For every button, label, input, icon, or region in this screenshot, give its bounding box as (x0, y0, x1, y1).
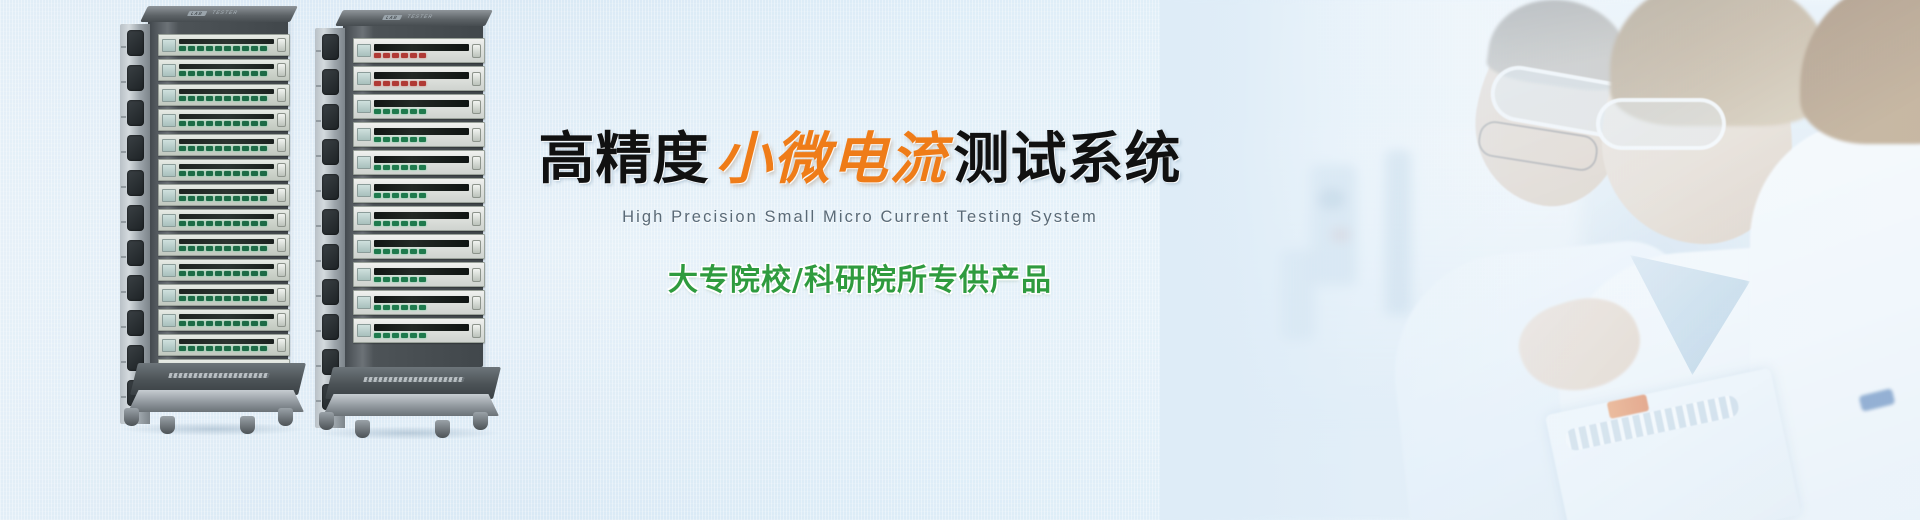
rail-vent-slot (127, 135, 144, 161)
status-led (410, 53, 417, 58)
instrument-knob (277, 288, 286, 302)
instrument-module (158, 259, 290, 281)
status-led (188, 271, 195, 276)
status-led (197, 196, 204, 201)
status-led (392, 277, 399, 282)
instrument-knob (277, 213, 286, 227)
status-led (392, 109, 399, 114)
instrument-readout-bar (374, 184, 469, 191)
instrument-led-row (179, 71, 274, 76)
instrument-module (353, 94, 485, 119)
rail-tick (316, 120, 321, 122)
status-led (224, 196, 231, 201)
rack-caster (319, 412, 334, 430)
instrument-module (158, 84, 290, 106)
status-led (374, 249, 381, 254)
status-led (179, 96, 186, 101)
instrument-module (353, 318, 485, 343)
status-led (242, 171, 249, 176)
status-led (260, 121, 267, 126)
status-led (233, 221, 240, 226)
status-led (215, 96, 222, 101)
status-led (419, 109, 426, 114)
status-led (224, 271, 231, 276)
rail-vent-slot (127, 205, 144, 231)
instrument-knob (277, 238, 286, 252)
instrument-knob (277, 338, 286, 352)
rail-vent-slot (322, 69, 339, 95)
rail-tick (121, 396, 126, 398)
instrument-led-row (179, 346, 274, 351)
status-led (392, 81, 399, 86)
status-led (401, 165, 408, 170)
rail-tick (316, 365, 321, 367)
equipment-rack-right: LAB TESTER (315, 22, 490, 418)
status-led (383, 137, 390, 142)
status-led (233, 346, 240, 351)
instrument-led-row (179, 296, 274, 301)
instrument-module (158, 184, 290, 206)
instrument-readout-bar (374, 240, 469, 247)
status-led (260, 96, 267, 101)
status-led (215, 296, 222, 301)
instrument-panel (374, 211, 469, 226)
lab-researchers-photo (1160, 0, 1920, 520)
rack-model-tag: TESTER (406, 14, 435, 20)
status-led (188, 346, 195, 351)
status-led (383, 53, 390, 58)
instrument-panel (374, 239, 469, 254)
instrument-panel (374, 323, 469, 338)
rail-vent-slot (322, 174, 339, 200)
status-led (206, 321, 213, 326)
status-led (260, 221, 267, 226)
status-led (188, 171, 195, 176)
rail-vent-slot (127, 100, 144, 126)
status-led (206, 196, 213, 201)
instrument-panel (374, 155, 469, 170)
status-led (242, 271, 249, 276)
status-led (179, 271, 186, 276)
status-led (224, 121, 231, 126)
rack-cabinet-top: LAB TESTER (335, 10, 493, 26)
status-led (215, 246, 222, 251)
status-led (179, 146, 186, 151)
status-led (383, 333, 390, 338)
instrument-knob (277, 188, 286, 202)
instrument-display (162, 214, 176, 227)
instrument-led-row (374, 333, 469, 338)
status-led (197, 346, 204, 351)
instrument-led-row (179, 46, 274, 51)
status-led (206, 96, 213, 101)
status-led (374, 221, 381, 226)
instrument-module (158, 209, 290, 231)
instrument-led-row (179, 221, 274, 226)
instrument-module (158, 159, 290, 181)
status-led (251, 96, 258, 101)
instrument-display (357, 184, 371, 197)
instrument-display (162, 139, 176, 152)
status-led (179, 46, 186, 51)
instrument-knob (472, 268, 481, 282)
status-led (401, 249, 408, 254)
instrument-led-row (179, 171, 274, 176)
status-led (392, 221, 399, 226)
rail-vent-slot (127, 275, 144, 301)
status-led (215, 171, 222, 176)
status-led (392, 165, 399, 170)
instrument-readout-bar (179, 239, 274, 244)
photo-left-fade (1160, 0, 1920, 520)
status-led (401, 81, 408, 86)
instrument-panel (179, 88, 274, 103)
status-led (260, 171, 267, 176)
status-led (188, 71, 195, 76)
rack-cabinet-top: LAB TESTER (140, 6, 298, 22)
instrument-led-row (374, 53, 469, 58)
status-led (197, 221, 204, 226)
status-led (188, 146, 195, 151)
status-led (419, 277, 426, 282)
instrument-knob (277, 63, 286, 77)
instrument-knob (277, 138, 286, 152)
instrument-display (162, 89, 176, 102)
instrument-led-row (374, 249, 469, 254)
status-led (374, 53, 381, 58)
instrument-knob (472, 100, 481, 114)
rack-base-label (363, 377, 464, 382)
instrument-led-row (179, 321, 274, 326)
rack-caster (240, 416, 255, 434)
status-led (410, 165, 417, 170)
rail-tick (121, 326, 126, 328)
instrument-knob (472, 324, 481, 338)
status-led (179, 296, 186, 301)
instrument-knob (472, 212, 481, 226)
status-led (242, 221, 249, 226)
instrument-module (353, 290, 485, 315)
status-led (197, 146, 204, 151)
status-led (233, 96, 240, 101)
status-led (260, 71, 267, 76)
instrument-display (162, 189, 176, 202)
instrument-display (357, 156, 371, 169)
rail-tick (121, 46, 126, 48)
status-led (188, 246, 195, 251)
status-led (260, 146, 267, 151)
instrument-readout-bar (374, 72, 469, 79)
instrument-module (353, 122, 485, 147)
rail-tick (316, 260, 321, 262)
status-led (233, 321, 240, 326)
instrument-module (158, 134, 290, 156)
status-led (419, 193, 426, 198)
instrument-knob (277, 163, 286, 177)
status-led (419, 137, 426, 142)
status-led (188, 96, 195, 101)
status-led (251, 171, 258, 176)
status-led (188, 221, 195, 226)
status-led (242, 46, 249, 51)
instrument-panel (374, 43, 469, 58)
rail-vent-slot (322, 139, 339, 165)
rack-caster (355, 420, 370, 438)
instrument-readout-bar (374, 44, 469, 51)
status-led (224, 221, 231, 226)
rack-instrument-stack (158, 34, 290, 384)
status-led (410, 333, 417, 338)
status-led (383, 165, 390, 170)
instrument-panel (374, 295, 469, 310)
instrument-readout-bar (374, 156, 469, 163)
status-led (410, 277, 417, 282)
instrument-led-row (179, 146, 274, 151)
instrument-knob (472, 184, 481, 198)
status-led (197, 71, 204, 76)
rack-caster (473, 412, 488, 430)
instrument-module (353, 262, 485, 287)
instrument-readout-bar (179, 289, 274, 294)
status-led (251, 146, 258, 151)
status-led (233, 296, 240, 301)
instrument-knob (472, 72, 481, 86)
status-led (251, 346, 258, 351)
instrument-knob (277, 263, 286, 277)
status-led (242, 321, 249, 326)
instrument-panel (374, 183, 469, 198)
status-led (188, 196, 195, 201)
instrument-panel (179, 213, 274, 228)
status-led (242, 121, 249, 126)
instrument-module (353, 38, 485, 63)
instrument-panel (179, 238, 274, 253)
status-led (188, 46, 195, 51)
status-led (224, 46, 231, 51)
status-led (188, 321, 195, 326)
status-led (392, 193, 399, 198)
rail-vent-slot (322, 314, 339, 340)
status-led (224, 71, 231, 76)
instrument-panel (179, 188, 274, 203)
status-led (401, 53, 408, 58)
instrument-panel (179, 288, 274, 303)
rack-brand-tag: LAB (382, 15, 402, 20)
instrument-display (162, 264, 176, 277)
status-led (260, 321, 267, 326)
rail-tick (316, 155, 321, 157)
status-led (179, 171, 186, 176)
status-led (242, 246, 249, 251)
rail-tick (121, 221, 126, 223)
status-led (401, 333, 408, 338)
instrument-panel (179, 163, 274, 178)
status-led (224, 246, 231, 251)
instrument-display (162, 39, 176, 52)
instrument-readout-bar (179, 64, 274, 69)
rack-brand-tag: LAB (187, 11, 207, 16)
instrument-led-row (374, 137, 469, 142)
instrument-knob (472, 128, 481, 142)
instrument-display (162, 114, 176, 127)
instrument-module (353, 206, 485, 231)
banner-subtitle-chinese: 大专院校/科研院所专供产品 (530, 255, 1190, 299)
equipment-rack-left: LAB TESTER (120, 18, 295, 418)
instrument-panel (179, 338, 274, 353)
instrument-display (162, 339, 176, 352)
instrument-display (357, 212, 371, 225)
status-led (419, 81, 426, 86)
status-led (233, 46, 240, 51)
status-led (206, 346, 213, 351)
status-led (383, 305, 390, 310)
instrument-knob (472, 296, 481, 310)
rack-brand-plate: LAB TESTER (186, 8, 303, 18)
status-led (197, 171, 204, 176)
status-led (206, 221, 213, 226)
instrument-panel (179, 263, 274, 278)
status-led (242, 296, 249, 301)
status-led (392, 53, 399, 58)
status-led (419, 249, 426, 254)
rack-shadow (315, 426, 501, 440)
status-led (233, 271, 240, 276)
instrument-readout-bar (179, 214, 274, 219)
status-led (401, 221, 408, 226)
status-led (401, 109, 408, 114)
instrument-led-row (179, 121, 274, 126)
status-led (179, 321, 186, 326)
status-led (215, 71, 222, 76)
instrument-panel (179, 313, 274, 328)
status-led (383, 277, 390, 282)
status-led (215, 221, 222, 226)
status-led (188, 296, 195, 301)
rack-caster (124, 408, 139, 426)
status-led (410, 221, 417, 226)
status-led (179, 346, 186, 351)
rail-tick (316, 85, 321, 87)
instrument-readout-bar (374, 100, 469, 107)
instrument-led-row (374, 305, 469, 310)
status-led (383, 221, 390, 226)
status-led (197, 96, 204, 101)
status-led (410, 109, 417, 114)
status-led (383, 193, 390, 198)
status-led (260, 296, 267, 301)
rail-tick (121, 116, 126, 118)
status-led (206, 71, 213, 76)
status-led (197, 246, 204, 251)
instrument-panel (374, 267, 469, 282)
status-led (179, 71, 186, 76)
instrument-readout-bar (179, 89, 274, 94)
status-led (260, 196, 267, 201)
instrument-module (158, 309, 290, 331)
instrument-readout-bar (179, 114, 274, 119)
instrument-readout-bar (374, 296, 469, 303)
instrument-knob (277, 38, 286, 52)
instrument-readout-bar (179, 339, 274, 344)
instrument-module (158, 109, 290, 131)
instrument-module (158, 34, 290, 56)
instrument-display (162, 64, 176, 77)
status-led (233, 146, 240, 151)
instrument-module (158, 59, 290, 81)
status-led (251, 71, 258, 76)
rail-vent-slot (127, 65, 144, 91)
status-led (383, 109, 390, 114)
status-led (374, 193, 381, 198)
status-led (251, 196, 258, 201)
status-led (224, 296, 231, 301)
instrument-knob (472, 156, 481, 170)
instrument-module (158, 284, 290, 306)
instrument-display (357, 100, 371, 113)
product-banner: LAB TESTER LAB TESTER 高精度小 (0, 0, 1920, 520)
instrument-readout-bar (179, 189, 274, 194)
instrument-led-row (179, 96, 274, 101)
instrument-display (357, 268, 371, 281)
status-led (419, 221, 426, 226)
rail-vent-slot (127, 240, 144, 266)
status-led (419, 333, 426, 338)
status-led (260, 346, 267, 351)
rail-tick (316, 225, 321, 227)
instrument-display (162, 164, 176, 177)
status-led (206, 171, 213, 176)
instrument-knob (277, 113, 286, 127)
status-led (251, 221, 258, 226)
rail-tick (316, 400, 321, 402)
instrument-module (158, 234, 290, 256)
status-led (233, 246, 240, 251)
status-led (410, 193, 417, 198)
rack-model-tag: TESTER (211, 10, 240, 16)
status-led (251, 271, 258, 276)
status-led (224, 321, 231, 326)
status-led (197, 46, 204, 51)
instrument-display (357, 72, 371, 85)
headline-highlight: 小微电流 (716, 126, 948, 192)
status-led (197, 271, 204, 276)
rail-vent-slot (322, 279, 339, 305)
status-led (374, 81, 381, 86)
status-led (401, 277, 408, 282)
instrument-led-row (179, 196, 274, 201)
status-led (260, 271, 267, 276)
rail-tick (121, 256, 126, 258)
status-led (374, 165, 381, 170)
status-led (392, 305, 399, 310)
status-led (374, 137, 381, 142)
instrument-panel (179, 38, 274, 53)
status-led (206, 121, 213, 126)
rack-brand-plate: LAB TESTER (381, 12, 498, 22)
rail-tick (316, 330, 321, 332)
rail-vent-slot (322, 104, 339, 130)
status-led (401, 137, 408, 142)
rail-tick (121, 361, 126, 363)
status-led (383, 81, 390, 86)
instrument-module (158, 334, 290, 356)
rail-tick (121, 81, 126, 83)
rail-vent-slot (127, 170, 144, 196)
instrument-panel (179, 63, 274, 78)
status-led (206, 246, 213, 251)
status-led (392, 249, 399, 254)
status-led (233, 121, 240, 126)
